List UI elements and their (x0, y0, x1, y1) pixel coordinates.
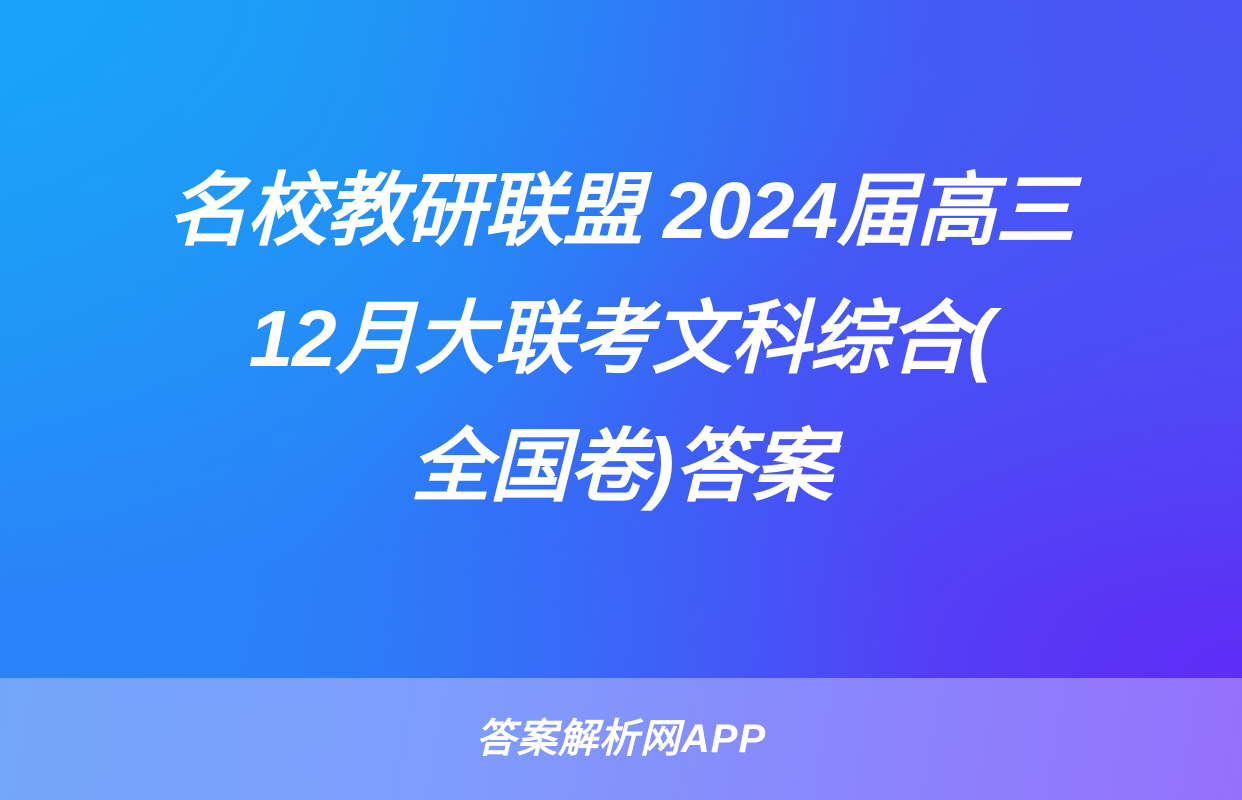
hero-title-block: 名校教研联盟 2024届高三 12月大联考文科综合( 全国卷)答案 (71, 147, 1171, 531)
hero-banner: 名校教研联盟 2024届高三 12月大联考文科综合( 全国卷)答案 (0, 0, 1242, 678)
page-title-line-1: 名校教研联盟 2024届高三 (71, 147, 1171, 275)
app-brand-label: 答案解析网APP (476, 719, 766, 759)
poster-root: 名校教研联盟 2024届高三 12月大联考文科综合( 全国卷)答案 答案解析网A… (0, 0, 1242, 800)
page-title-line-3: 全国卷)答案 (71, 403, 1171, 531)
page-title-line-2: 12月大联考文科综合( (71, 275, 1171, 403)
footer-brand-band: 答案解析网APP (0, 678, 1242, 800)
